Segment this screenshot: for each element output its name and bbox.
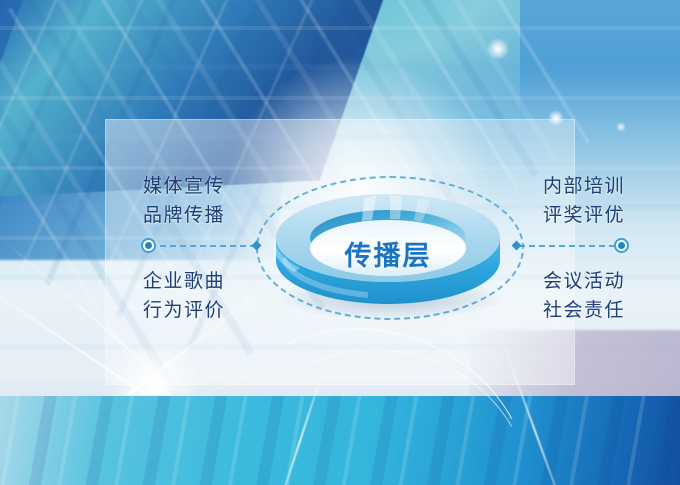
label-top-right-line1: 内部培训 bbox=[543, 172, 625, 201]
center-ring-graphic[interactable]: 传播层 bbox=[272, 186, 504, 314]
label-top-right-line2: 评奖评优 bbox=[543, 201, 625, 230]
connector-line-right bbox=[519, 245, 615, 247]
connector-node-right[interactable] bbox=[614, 238, 629, 253]
connector-line-left bbox=[160, 245, 256, 247]
connector-node-left[interactable] bbox=[141, 238, 156, 253]
glow-dot-upper bbox=[487, 38, 509, 60]
infographic-canvas: 传播层 媒体宣传 品牌传播 企业歌曲 行为评价 内部培训 评奖评优 会议活动 社… bbox=[0, 0, 680, 485]
label-top-right: 内部培训 评奖评优 bbox=[543, 172, 625, 230]
glow-dot-small bbox=[616, 122, 626, 132]
label-bottom-right-line2: 社会责任 bbox=[543, 296, 625, 325]
label-top-left: 媒体宣传 品牌传播 bbox=[143, 172, 225, 230]
label-bottom-left-line1: 企业歌曲 bbox=[143, 267, 225, 296]
label-bottom-left-line2: 行为评价 bbox=[143, 296, 225, 325]
label-bottom-left: 企业歌曲 行为评价 bbox=[143, 267, 225, 325]
label-top-left-line2: 品牌传播 bbox=[143, 201, 225, 230]
label-top-left-line1: 媒体宣传 bbox=[143, 172, 225, 201]
label-bottom-right-line1: 会议活动 bbox=[543, 267, 625, 296]
label-bottom-right: 会议活动 社会责任 bbox=[543, 267, 625, 325]
